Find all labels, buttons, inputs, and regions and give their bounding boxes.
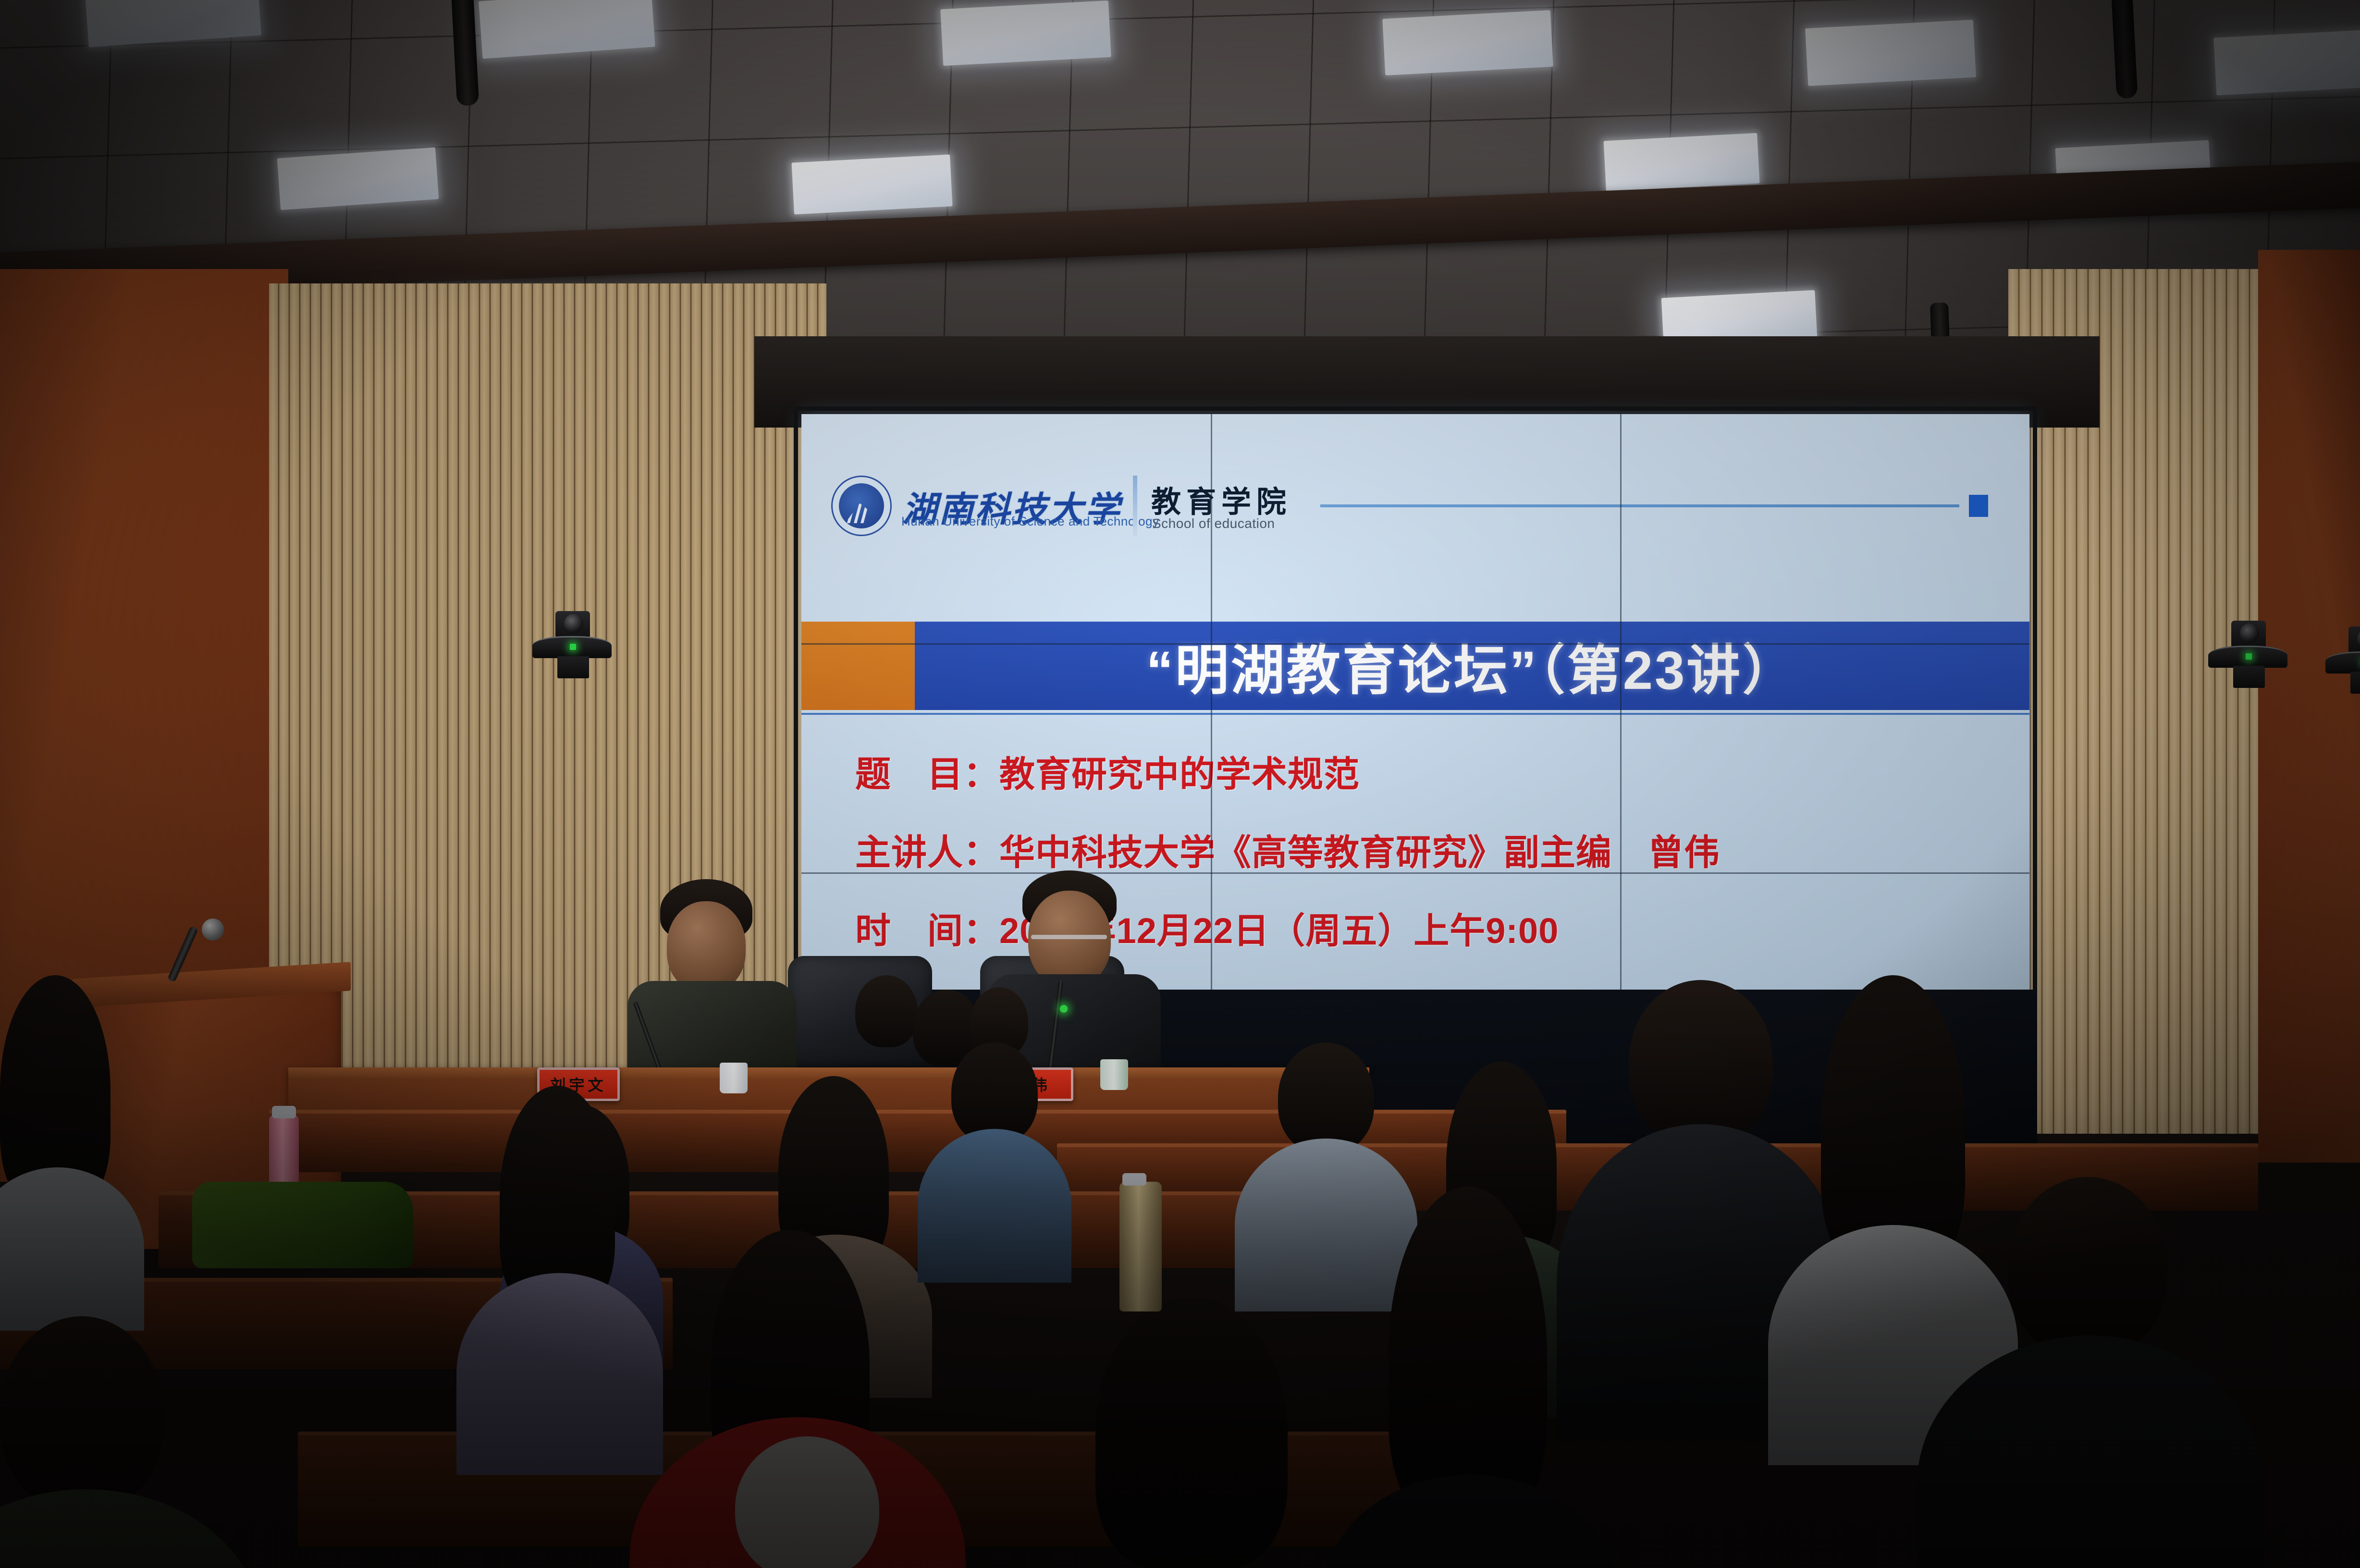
head (1629, 980, 1773, 1143)
lecture-hall-photo: 湖南科技大学 Hunan University of Science and T… (0, 0, 2360, 1568)
head (855, 975, 918, 1047)
slide-title-band: “明湖教育论坛”（第23讲） (801, 622, 2029, 710)
hair (1389, 1187, 1547, 1523)
ptz-camera-right-2 (2325, 625, 2360, 692)
head (951, 1042, 1038, 1143)
camera-lens-icon (2240, 624, 2259, 643)
torso (1235, 1139, 1417, 1311)
title-band-underline (801, 713, 2029, 715)
right-wall-panel (2258, 250, 2360, 1163)
university-name-en: Hunan University of Science and Technolo… (901, 514, 1159, 529)
camera-status-led (2246, 653, 2252, 660)
slide-info-topic: 题 目：教育研究中的学术规范 (855, 746, 1984, 797)
header-rule (1320, 504, 1959, 507)
camera-status-led (570, 644, 576, 650)
torso (456, 1273, 663, 1475)
face (667, 901, 746, 992)
head (2008, 1177, 2167, 1355)
slide-header: 湖南科技大学 Hunan University of Science and T… (801, 414, 2029, 597)
microphone-head-icon (202, 919, 224, 941)
title-band-orange-block (801, 622, 915, 710)
camera-wall-mount (557, 656, 589, 678)
header-accent-square (1969, 495, 1988, 517)
head (1278, 1042, 1374, 1153)
title-band-blue-block: “明湖教育论坛”（第23讲） (915, 622, 2029, 710)
torso (0, 1489, 259, 1568)
forum-title: “明湖教育论坛”（第23讲） (1146, 627, 1798, 705)
paper-cup-left (720, 1063, 748, 1093)
slide-info-speaker: 主讲人：华中科技大学《高等教育研究》副主编 曾伟 (855, 824, 1984, 875)
torso (918, 1129, 1071, 1283)
ptz-camera-left (532, 609, 612, 676)
camera-wall-mount (2233, 666, 2265, 688)
school-name-en: School of education (1152, 516, 1275, 531)
camera-hood (2325, 651, 2360, 674)
camera-lens-icon (564, 614, 583, 633)
green-jacket-on-desk (192, 1182, 413, 1268)
logo-divider (1133, 476, 1137, 536)
head (0, 1316, 163, 1508)
microphone-status-led (1060, 1005, 1068, 1013)
university-emblem-icon (831, 476, 892, 536)
hair (1095, 1297, 1288, 1568)
paper-cup-right (1100, 1059, 1128, 1090)
thermos-gold (1119, 1182, 1162, 1311)
camera-wall-mount (2350, 672, 2360, 694)
eyeglasses (1031, 935, 1107, 939)
school-name-cn: 教育学院 (1151, 478, 1291, 521)
ptz-camera-right-1 (2208, 619, 2287, 686)
